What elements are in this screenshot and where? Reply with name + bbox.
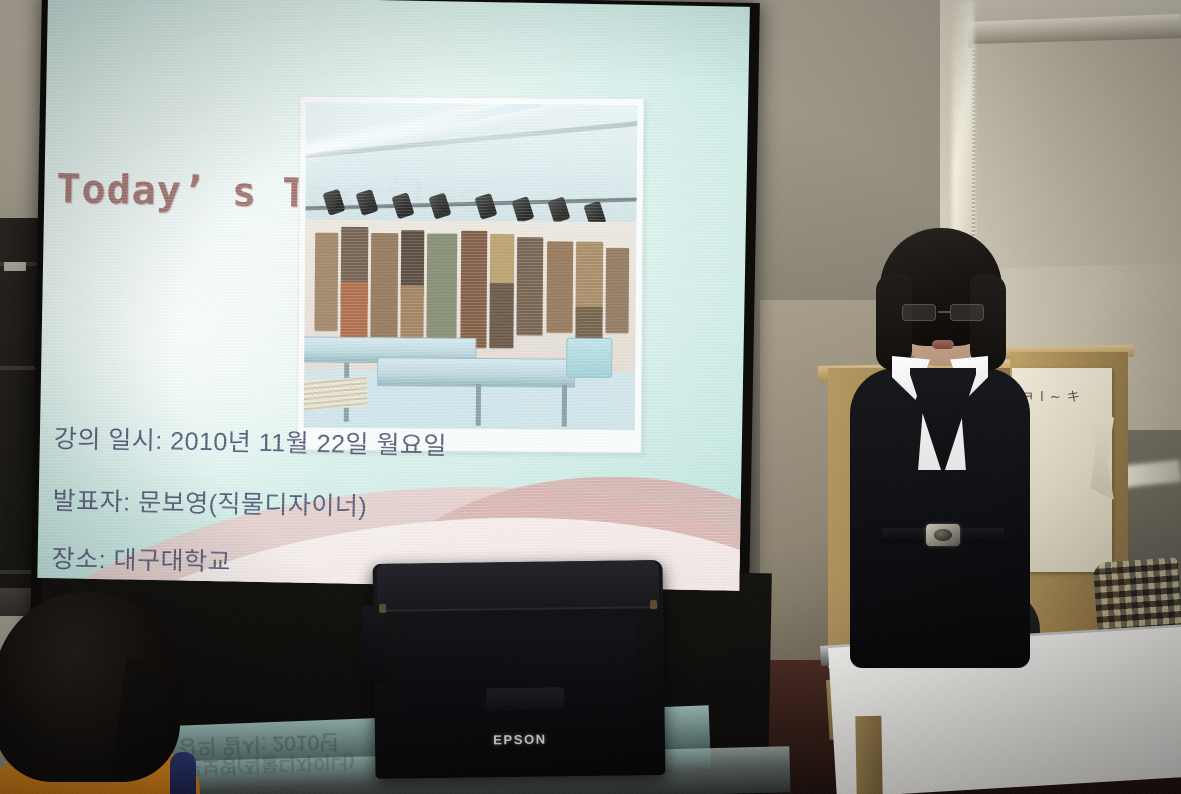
slide-photo-frame xyxy=(297,95,645,453)
fabric-swatch xyxy=(490,283,514,348)
slide-photo xyxy=(304,102,638,430)
bag-zipper-right xyxy=(650,600,657,609)
bag-zipper-left xyxy=(379,604,386,613)
glasses-icon xyxy=(900,304,986,322)
fabric-swatch xyxy=(460,230,487,347)
front-table-leg xyxy=(855,716,882,794)
slide-speaker-value: 문보영(직물디자이너) xyxy=(138,489,368,521)
presenter-mouth xyxy=(932,340,954,349)
slide-place-label: 장소: xyxy=(51,545,106,574)
reflection-text-line-2: 문보영(직물디자이너) xyxy=(184,749,355,783)
projected-slide: Today’ s Textiles xyxy=(37,0,750,591)
presenter-hair-right xyxy=(970,274,1006,370)
slide-date-value: 2010년 11월 22일 월요일 xyxy=(170,427,447,460)
storage-bin xyxy=(566,338,612,378)
slide-line-date: 강의 일시: 2010년 11월 22일 월요일 xyxy=(54,419,448,462)
fabric-swatch xyxy=(427,233,458,344)
classroom-presentation-photo: ㅋ l ~ キ Today’ s xyxy=(0,0,1181,794)
slide-line-speaker: 발표자: 문보영(직물디자이너) xyxy=(52,481,367,523)
fabric-swatch xyxy=(546,241,573,332)
fabric-swatch xyxy=(516,237,543,335)
belt-buckle xyxy=(926,524,960,546)
bag-front-pocket xyxy=(403,618,636,729)
fabric-swatch xyxy=(371,233,398,337)
audience-blue-object xyxy=(170,752,196,794)
bag-flap xyxy=(377,560,660,612)
fabric-stack xyxy=(304,376,369,410)
presenter-hair-left xyxy=(876,274,912,370)
fabric-swatch xyxy=(341,282,368,341)
slide-date-label: 강의 일시: xyxy=(54,425,163,455)
cabinet-label-tag xyxy=(4,262,26,271)
slide-place-value: 대구대학교 xyxy=(113,546,231,576)
fabric-swatch xyxy=(314,233,338,331)
bag-handle xyxy=(486,687,564,710)
fabric-swatch xyxy=(606,248,630,333)
presenter xyxy=(838,228,1038,668)
window-light-streak xyxy=(952,0,974,250)
epson-logo: EPSON xyxy=(375,730,665,749)
epson-projector-bag: EPSON xyxy=(373,560,666,779)
bag-side-strap xyxy=(361,606,386,684)
slide-line-place: 장소: 대구대학교 xyxy=(51,539,231,578)
fabric-swatch xyxy=(490,234,514,286)
fabric-swatch xyxy=(576,241,603,313)
slide-speaker-label: 발표자: xyxy=(52,487,130,516)
